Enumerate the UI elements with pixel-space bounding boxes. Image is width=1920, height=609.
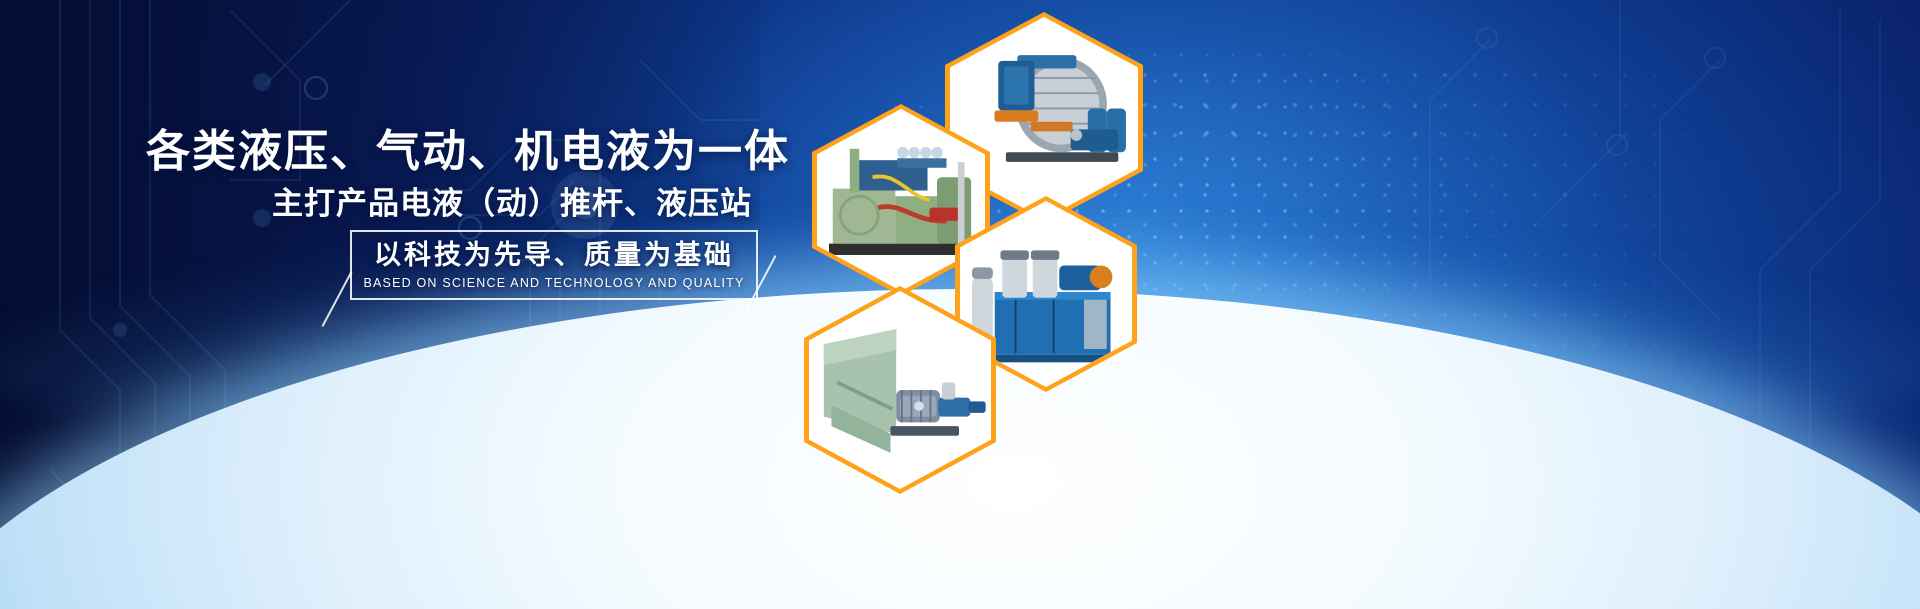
headline-block: 各类液压、气动、机电液为一体 主打产品电液（动）推杆、液压站 以科技为先导、质量… bbox=[0, 0, 800, 609]
electro-hydraulic-push-rod-photo bbox=[809, 291, 991, 489]
promo-banner: 各类液压、气动、机电液为一体 主打产品电液（动）推杆、液压站 以科技为先导、质量… bbox=[0, 0, 1920, 609]
slogan-chinese: 以科技为先导、质量为基础 bbox=[374, 240, 734, 270]
product-hexagon-cluster bbox=[780, 0, 1180, 609]
decor-slash-left bbox=[322, 271, 353, 327]
slogan-box: 以科技为先导、质量为基础 BASED ON SCIENCE AND TECHNO… bbox=[350, 230, 758, 300]
slogan-english: BASED ON SCIENCE AND TECHNOLOGY AND QUAL… bbox=[363, 276, 744, 290]
banner-headline: 各类液压、气动、机电液为一体 bbox=[0, 128, 790, 176]
banner-subheadline: 主打产品电液（动）推杆、液压站 bbox=[0, 185, 752, 222]
hex-photo-frame bbox=[809, 291, 991, 489]
